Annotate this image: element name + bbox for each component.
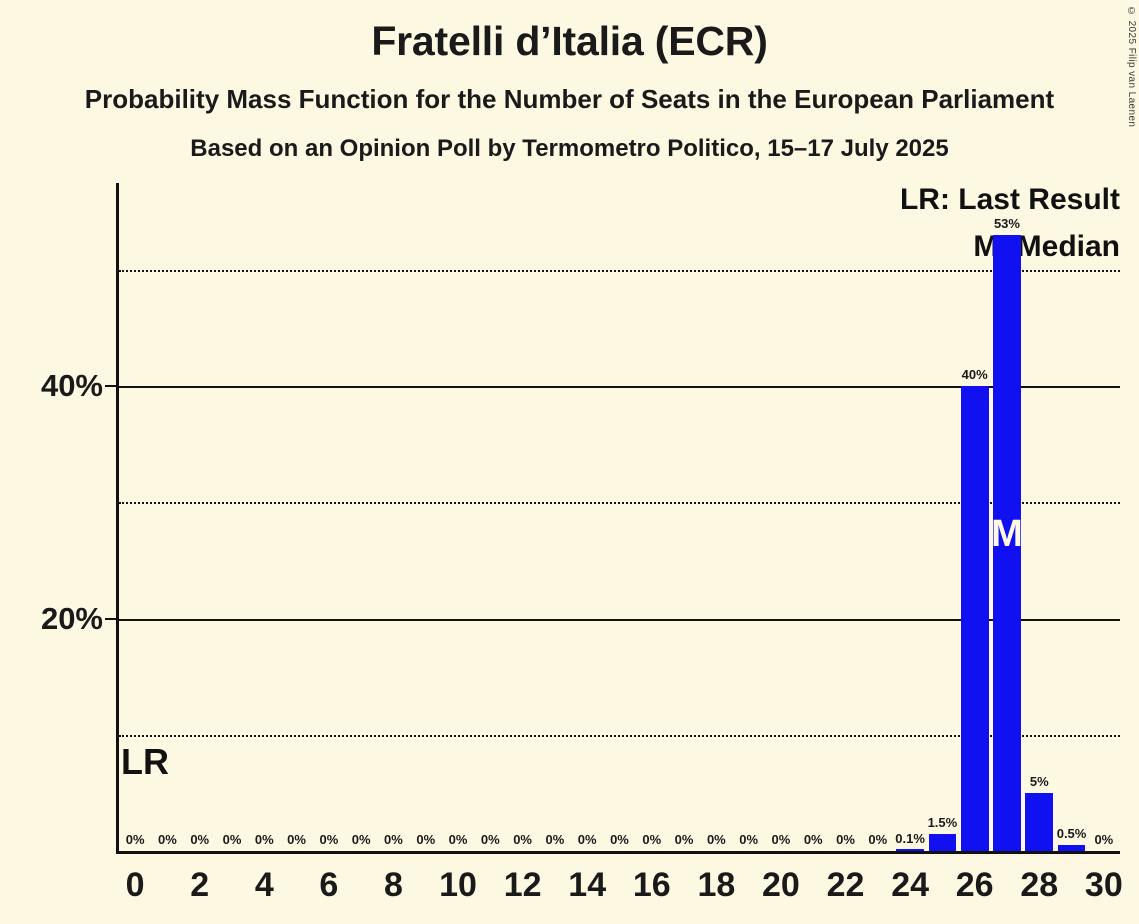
bar-value-label: 0% bbox=[700, 832, 732, 847]
bar-value-label: 53% bbox=[991, 216, 1023, 231]
bar-slot[interactable]: 1.5% bbox=[926, 183, 958, 851]
x-tick-label-26: 26 bbox=[956, 866, 994, 905]
bar-slot[interactable]: 0.1% bbox=[894, 183, 926, 851]
chart-subtitle-source: Based on an Opinion Poll by Termometro P… bbox=[0, 136, 1139, 162]
bar-slot[interactable]: 5% bbox=[1023, 183, 1055, 851]
bar[interactable] bbox=[961, 386, 989, 851]
bar-value-label: 0% bbox=[829, 832, 861, 847]
bar-slot[interactable]: 0% bbox=[539, 183, 571, 851]
bar-slot[interactable]: 0% bbox=[184, 183, 216, 851]
bar-slot[interactable]: 0% bbox=[216, 183, 248, 851]
bar-value-label: 0% bbox=[345, 832, 377, 847]
bar[interactable] bbox=[896, 849, 924, 851]
bar-value-label: 0% bbox=[797, 832, 829, 847]
x-tick-label-8: 8 bbox=[384, 866, 403, 905]
median-marker: M bbox=[991, 513, 1023, 556]
x-tick-label-16: 16 bbox=[633, 866, 671, 905]
x-tick-label-20: 20 bbox=[762, 866, 800, 905]
bar-value-label: 0% bbox=[539, 832, 571, 847]
x-tick-label-6: 6 bbox=[319, 866, 338, 905]
bar-slot[interactable]: 0% bbox=[636, 183, 668, 851]
bar-slot[interactable]: 0% bbox=[603, 183, 635, 851]
x-tick-label-4: 4 bbox=[255, 866, 274, 905]
x-axis-ticks: 024681012141618202224262830 bbox=[119, 866, 1120, 924]
bar-series: 0%0%0%0%0%0%0%0%0%0%0%0%0%0%0%0%0%0%0%0%… bbox=[119, 183, 1120, 851]
bar-slot[interactable]: 0% bbox=[700, 183, 732, 851]
x-tick-label-10: 10 bbox=[439, 866, 477, 905]
chart-canvas: Fratelli d’Italia (ECR) Probability Mass… bbox=[0, 0, 1139, 924]
bar-value-label: 0% bbox=[216, 832, 248, 847]
bar-value-label: 0% bbox=[151, 832, 183, 847]
bar-slot[interactable]: 0% bbox=[765, 183, 797, 851]
bar[interactable] bbox=[929, 834, 957, 851]
bar-value-label: 0% bbox=[184, 832, 216, 847]
last-result-marker: LR bbox=[121, 741, 169, 783]
bar-slot[interactable]: 0% bbox=[313, 183, 345, 851]
bar-value-label: 0% bbox=[119, 832, 151, 847]
bar-slot[interactable]: 0% bbox=[474, 183, 506, 851]
copyright-notice: © 2025 Filip van Laenen bbox=[1126, 6, 1137, 127]
bar-value-label: 0.5% bbox=[1055, 826, 1087, 841]
bar-value-label: 0% bbox=[442, 832, 474, 847]
y-tick-mark-20 bbox=[105, 618, 119, 620]
bar-value-label: 0.1% bbox=[894, 831, 926, 846]
bar-slot[interactable]: 0% bbox=[797, 183, 829, 851]
bar-value-label: 0% bbox=[248, 832, 280, 847]
bar-slot[interactable]: 0% bbox=[280, 183, 312, 851]
bar-value-label: 0% bbox=[571, 832, 603, 847]
bar-value-label: 1.5% bbox=[926, 815, 958, 830]
bar-value-label: 0% bbox=[636, 832, 668, 847]
bar[interactable] bbox=[1025, 793, 1053, 851]
bar-slot[interactable]: 0% bbox=[377, 183, 409, 851]
x-tick-label-0: 0 bbox=[126, 866, 145, 905]
bar-value-label: 0% bbox=[733, 832, 765, 847]
bar-slot[interactable]: 0% bbox=[668, 183, 700, 851]
bar-slot[interactable]: 0% bbox=[1088, 183, 1120, 851]
bar-value-label: 0% bbox=[1088, 832, 1120, 847]
bar-slot[interactable]: 40% bbox=[959, 183, 991, 851]
bar-slot[interactable]: 0% bbox=[248, 183, 280, 851]
x-tick-label-12: 12 bbox=[504, 866, 542, 905]
bar-value-label: 0% bbox=[280, 832, 312, 847]
bar-value-label: 40% bbox=[959, 367, 991, 382]
bar-value-label: 0% bbox=[313, 832, 345, 847]
x-tick-label-24: 24 bbox=[891, 866, 929, 905]
bar-slot[interactable]: 0% bbox=[862, 183, 894, 851]
bar-value-label: 0% bbox=[668, 832, 700, 847]
bar-slot[interactable]: 0% bbox=[410, 183, 442, 851]
plot-area: 20%40% 0%0%0%0%0%0%0%0%0%0%0%0%0%0%0%0%0… bbox=[119, 183, 1120, 851]
bar-slot[interactable]: 0% bbox=[733, 183, 765, 851]
bar-value-label: 0% bbox=[603, 832, 635, 847]
x-tick-label-28: 28 bbox=[1020, 866, 1058, 905]
bar-value-label: 0% bbox=[765, 832, 797, 847]
x-tick-label-18: 18 bbox=[697, 866, 735, 905]
bar-slot[interactable]: 0% bbox=[571, 183, 603, 851]
bar-slot[interactable]: 0% bbox=[345, 183, 377, 851]
bar-value-label: 0% bbox=[410, 832, 442, 847]
chart-subtitle: Probability Mass Function for the Number… bbox=[0, 85, 1139, 114]
bar-slot[interactable]: 0% bbox=[506, 183, 538, 851]
bar-slot[interactable]: 0.5% bbox=[1055, 183, 1087, 851]
bar-value-label: 0% bbox=[862, 832, 894, 847]
y-tick-mark-40 bbox=[105, 385, 119, 387]
bar-slot[interactable]: 0% bbox=[442, 183, 474, 851]
x-tick-label-30: 30 bbox=[1085, 866, 1123, 905]
x-axis-line bbox=[116, 851, 1120, 854]
bar[interactable] bbox=[1058, 845, 1086, 851]
chart-title: Fratelli d’Italia (ECR) bbox=[0, 20, 1139, 63]
x-tick-label-22: 22 bbox=[827, 866, 865, 905]
bar-value-label: 0% bbox=[474, 832, 506, 847]
bar-value-label: 0% bbox=[377, 832, 409, 847]
x-tick-label-2: 2 bbox=[190, 866, 209, 905]
x-tick-label-14: 14 bbox=[568, 866, 606, 905]
bar-value-label: 5% bbox=[1023, 774, 1055, 789]
bar-value-label: 0% bbox=[506, 832, 538, 847]
bar-slot[interactable]: 0% bbox=[829, 183, 861, 851]
